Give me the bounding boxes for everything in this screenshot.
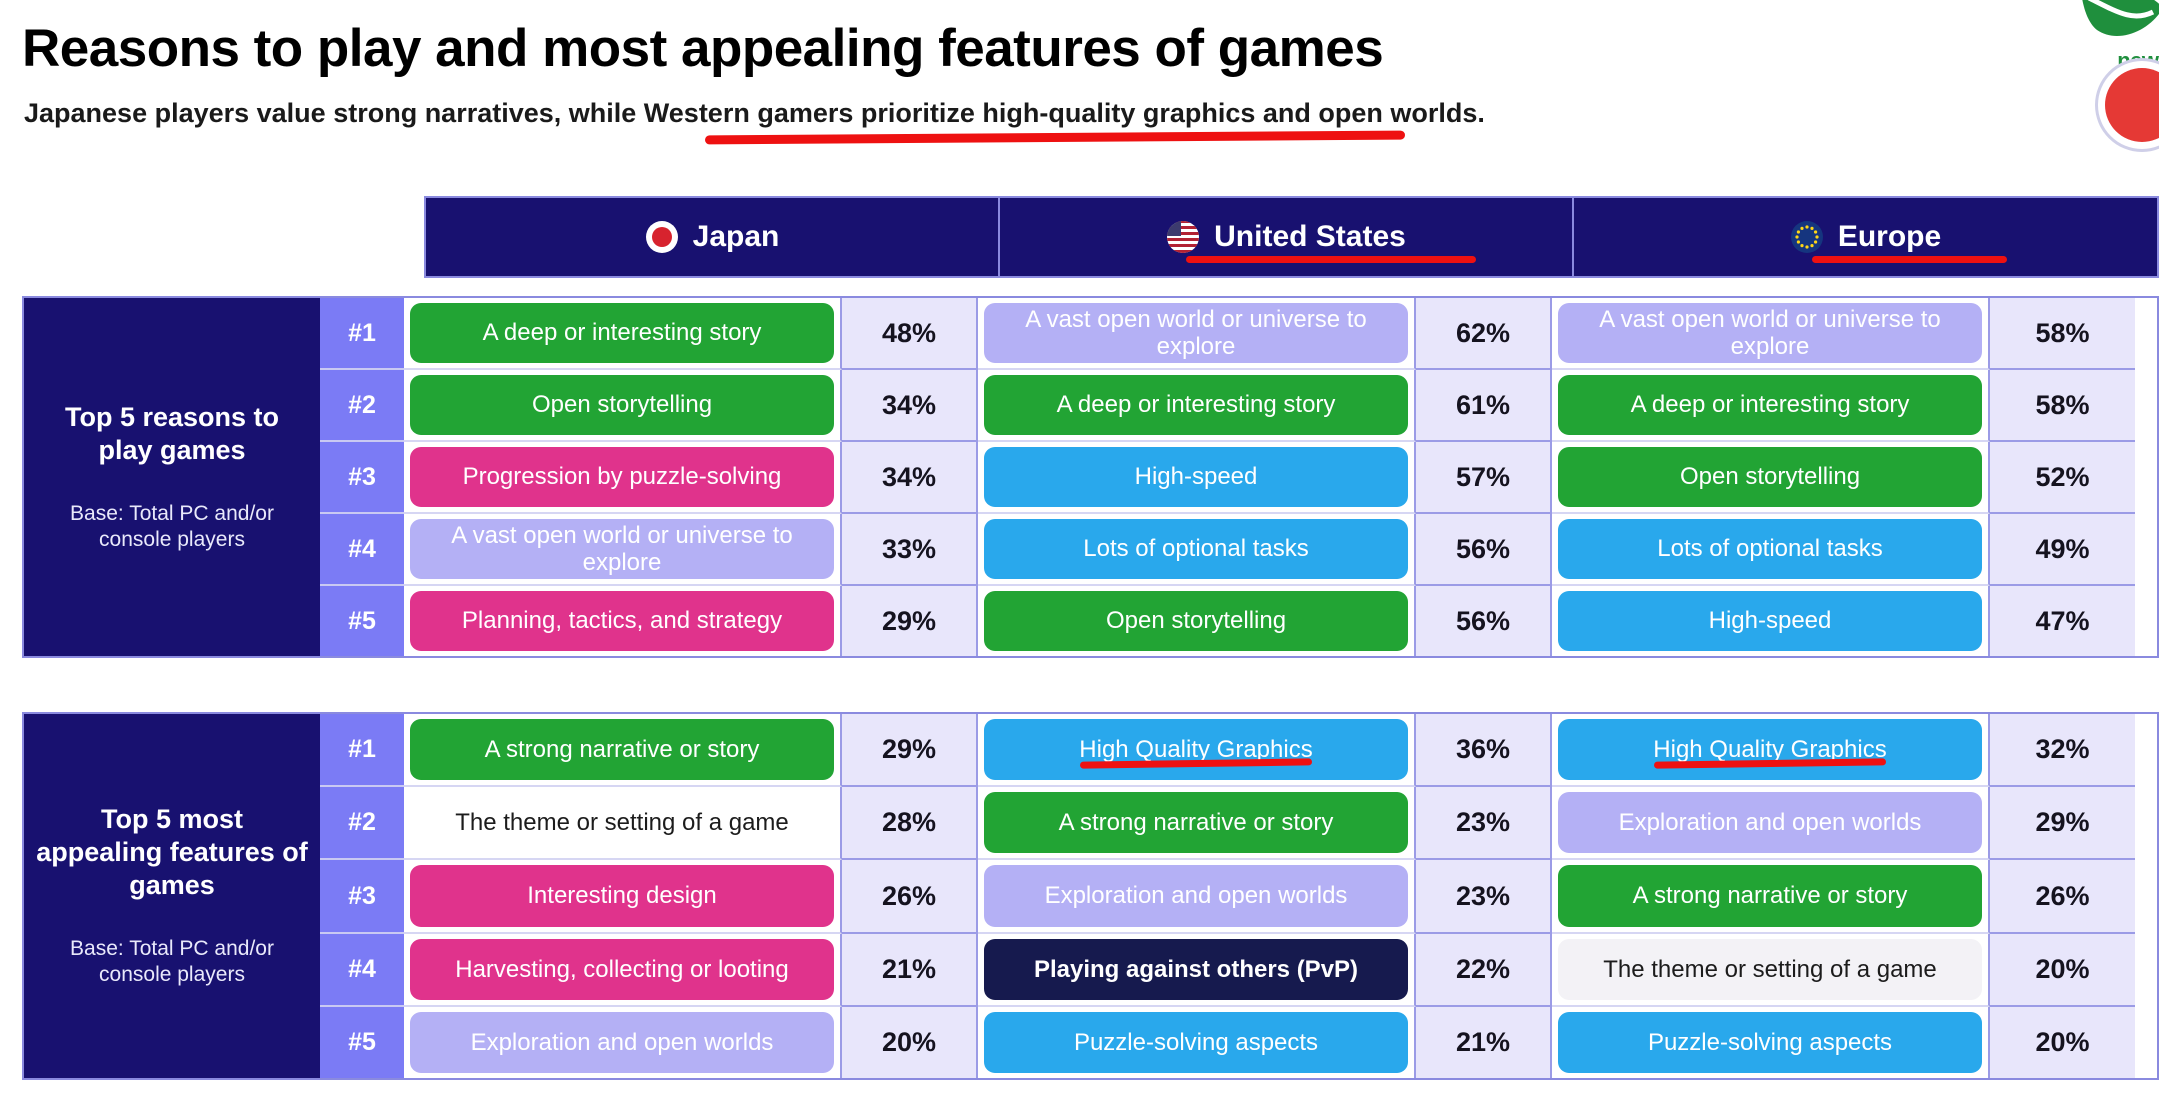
value-cell: 21% [842,934,978,1007]
table-reasons-to-play: Top 5 reasons to play games Base: Total … [22,296,2159,658]
reasons-europe-labels: A vast open world or universe to explore… [1552,298,1990,656]
slide-canvas: Reasons to play and most appealing featu… [0,0,2159,1097]
table-row: High Quality Graphics [978,714,1416,787]
rank-cell: #5 [320,1007,404,1078]
table-row: A strong narrative or story [404,714,842,787]
table-row: High-speed [1552,586,1990,656]
answer-pill: Open storytelling [1558,447,1982,507]
answer-pill: A strong narrative or story [984,792,1408,853]
rank-column-features: #1 #2 #3 #4 #5 [320,714,404,1078]
value-cell: 56% [1416,514,1552,586]
table-row: Playing against others (PvP) [978,934,1416,1007]
answer-pill: The theme or setting of a game [1558,939,1982,1000]
table-row: Puzzle-solving aspects [1552,1007,1990,1078]
usa-flag-icon [1166,220,1200,254]
table-row: Puzzle-solving aspects [978,1007,1416,1078]
value-cell: 29% [1990,787,2135,860]
answer-pill: Progression by puzzle-solving [410,447,834,507]
table-row: Interesting design [404,860,842,933]
answer-pill: Playing against others (PvP) [984,939,1408,1000]
table-row: Exploration and open worlds [1552,787,1990,860]
page-subtitle: Japanese players value strong narratives… [24,98,1485,129]
record-dot-icon [2105,68,2159,142]
table-row: Open storytelling [404,370,842,442]
table-row: A vast open world or universe to explore [404,514,842,586]
value-cell: 32% [1990,714,2135,787]
rank-cell: #3 [320,442,404,514]
rank-column-reasons: #1 #2 #3 #4 #5 [320,298,404,656]
value-cell: 26% [842,860,978,933]
reasons-usa-values: 62% 61% 57% 56% 56% [1416,298,1552,656]
table-row: A vast open world or universe to explore [1552,298,1990,370]
rank-cell: #5 [320,586,404,656]
value-cell: 28% [842,787,978,860]
answer-pill: A deep or interesting story [410,303,834,363]
answer-pill: A vast open world or universe to explore [984,303,1408,363]
value-cell: 20% [1990,1007,2135,1078]
answer-pill: Planning, tactics, and strategy [410,591,834,651]
value-cell: 34% [842,370,978,442]
answer-pill: A deep or interesting story [1558,375,1982,435]
market-header-row: Japan United States [424,196,2159,278]
united-states-red-underline-annotation [1186,256,1476,263]
subtitle-red-underline-annotation [705,131,1405,145]
reasons-usa-labels: A vast open world or universe to explore… [978,298,1416,656]
answer-pill: High-speed [984,447,1408,507]
value-cell: 36% [1416,714,1552,787]
reasons-europe-values: 58% 58% 52% 49% 47% [1990,298,2135,656]
value-cell: 56% [1416,586,1552,656]
rank-cell: #4 [320,934,404,1007]
value-cell: 57% [1416,442,1552,514]
features-usa-labels: High Quality Graphics A strong narrative… [978,714,1416,1078]
value-cell: 21% [1416,1007,1552,1078]
answer-pill: Interesting design [410,865,834,926]
table-row: A deep or interesting story [978,370,1416,442]
answer-pill: High Quality Graphics [1558,719,1982,780]
table-row: Harvesting, collecting or looting [404,934,842,1007]
features-usa-values: 36% 23% 23% 22% 21% [1416,714,1552,1078]
value-cell: 62% [1416,298,1552,370]
table-row: Lots of optional tasks [1552,514,1990,586]
section-label-features: Top 5 most appealing features of games B… [24,714,320,1078]
answer-pill: Exploration and open worlds [410,1012,834,1073]
answer-pill: High-speed [1558,591,1982,651]
table-row: Planning, tactics, and strategy [404,586,842,656]
value-cell: 48% [842,298,978,370]
section-base-features: Base: Total PC and/or console players [36,936,308,989]
value-cell: 47% [1990,586,2135,656]
rank-cell: #4 [320,514,404,586]
column-header-united-states: United States [1000,198,1574,276]
table-row: The theme or setting of a game [1552,934,1990,1007]
answer-pill: Open storytelling [410,375,834,435]
value-cell: 20% [842,1007,978,1078]
answer-pill: Exploration and open worlds [984,865,1408,926]
answer-pill: Open storytelling [984,591,1408,651]
column-header-europe: Europe [1574,198,2157,276]
table-appealing-features: Top 5 most appealing features of games B… [22,712,2159,1080]
table-row: Open storytelling [978,586,1416,656]
value-cell: 61% [1416,370,1552,442]
features-japan-values: 29% 28% 26% 21% 20% [842,714,978,1078]
features-japan-labels: A strong narrative or story The theme or… [404,714,842,1078]
table-row: The theme or setting of a game [404,787,842,860]
answer-pill: Harvesting, collecting or looting [410,939,834,1000]
table-row: Open storytelling [1552,442,1990,514]
value-cell: 52% [1990,442,2135,514]
answer-pill: High Quality Graphics [984,719,1408,780]
table-row: Lots of optional tasks [978,514,1416,586]
value-cell: 49% [1990,514,2135,586]
answer-pill: Lots of optional tasks [1558,519,1982,579]
table-row: A deep or interesting story [1552,370,1990,442]
rank-cell: #1 [320,298,404,370]
rank-cell: #3 [320,860,404,933]
table-row: Exploration and open worlds [404,1007,842,1078]
japan-flag-icon [645,220,679,254]
value-cell: 29% [842,714,978,787]
table-row: Progression by puzzle-solving [404,442,842,514]
europe-red-underline-annotation [1812,256,2007,263]
section-base-reasons: Base: Total PC and/or console players [36,501,308,554]
column-header-united-states-label: United States [1214,220,1406,254]
answer-pill: Puzzle-solving aspects [1558,1012,1982,1073]
answer-pill: Puzzle-solving aspects [984,1012,1408,1073]
answer-pill: A vast open world or universe to explore [1558,303,1982,363]
reasons-japan-labels: A deep or interesting story Open storyte… [404,298,842,656]
value-cell: 34% [842,442,978,514]
answer-pill: A strong narrative or story [1558,865,1982,926]
europe-flag-icon [1790,220,1824,254]
answer-pill: A deep or interesting story [984,375,1408,435]
table-row: High-speed [978,442,1416,514]
section-title-features: Top 5 most appealing features of games [36,803,308,902]
column-header-europe-label: Europe [1838,220,1941,254]
value-cell: 58% [1990,298,2135,370]
table-row: A strong narrative or story [978,787,1416,860]
table-row: A vast open world or universe to explore [978,298,1416,370]
rank-cell: #1 [320,714,404,787]
answer-pill: A strong narrative or story [410,719,834,780]
column-header-japan: Japan [426,198,1000,276]
answer-pill: Exploration and open worlds [1558,792,1982,853]
features-europe-values: 32% 29% 26% 20% 20% [1990,714,2135,1078]
section-label-reasons: Top 5 reasons to play games Base: Total … [24,298,320,656]
page-title: Reasons to play and most appealing featu… [22,18,1383,79]
answer-pill: A vast open world or universe to explore [410,519,834,579]
reasons-japan-values: 48% 34% 34% 33% 29% [842,298,978,656]
table-row: A deep or interesting story [404,298,842,370]
value-cell: 58% [1990,370,2135,442]
value-cell: 22% [1416,934,1552,1007]
value-cell: 26% [1990,860,2135,933]
answer-pill: Lots of optional tasks [984,519,1408,579]
value-cell: 29% [842,586,978,656]
value-cell: 23% [1416,787,1552,860]
column-header-japan-label: Japan [693,220,780,254]
value-cell: 33% [842,514,978,586]
rank-cell: #2 [320,787,404,860]
value-cell: 23% [1416,860,1552,933]
value-cell: 20% [1990,934,2135,1007]
rank-cell: #2 [320,370,404,442]
answer-pill: The theme or setting of a game [410,792,834,853]
section-title-reasons: Top 5 reasons to play games [36,401,308,467]
table-row: A strong narrative or story [1552,860,1990,933]
features-europe-labels: High Quality Graphics Exploration and op… [1552,714,1990,1078]
table-row: Exploration and open worlds [978,860,1416,933]
table-row: High Quality Graphics [1552,714,1990,787]
